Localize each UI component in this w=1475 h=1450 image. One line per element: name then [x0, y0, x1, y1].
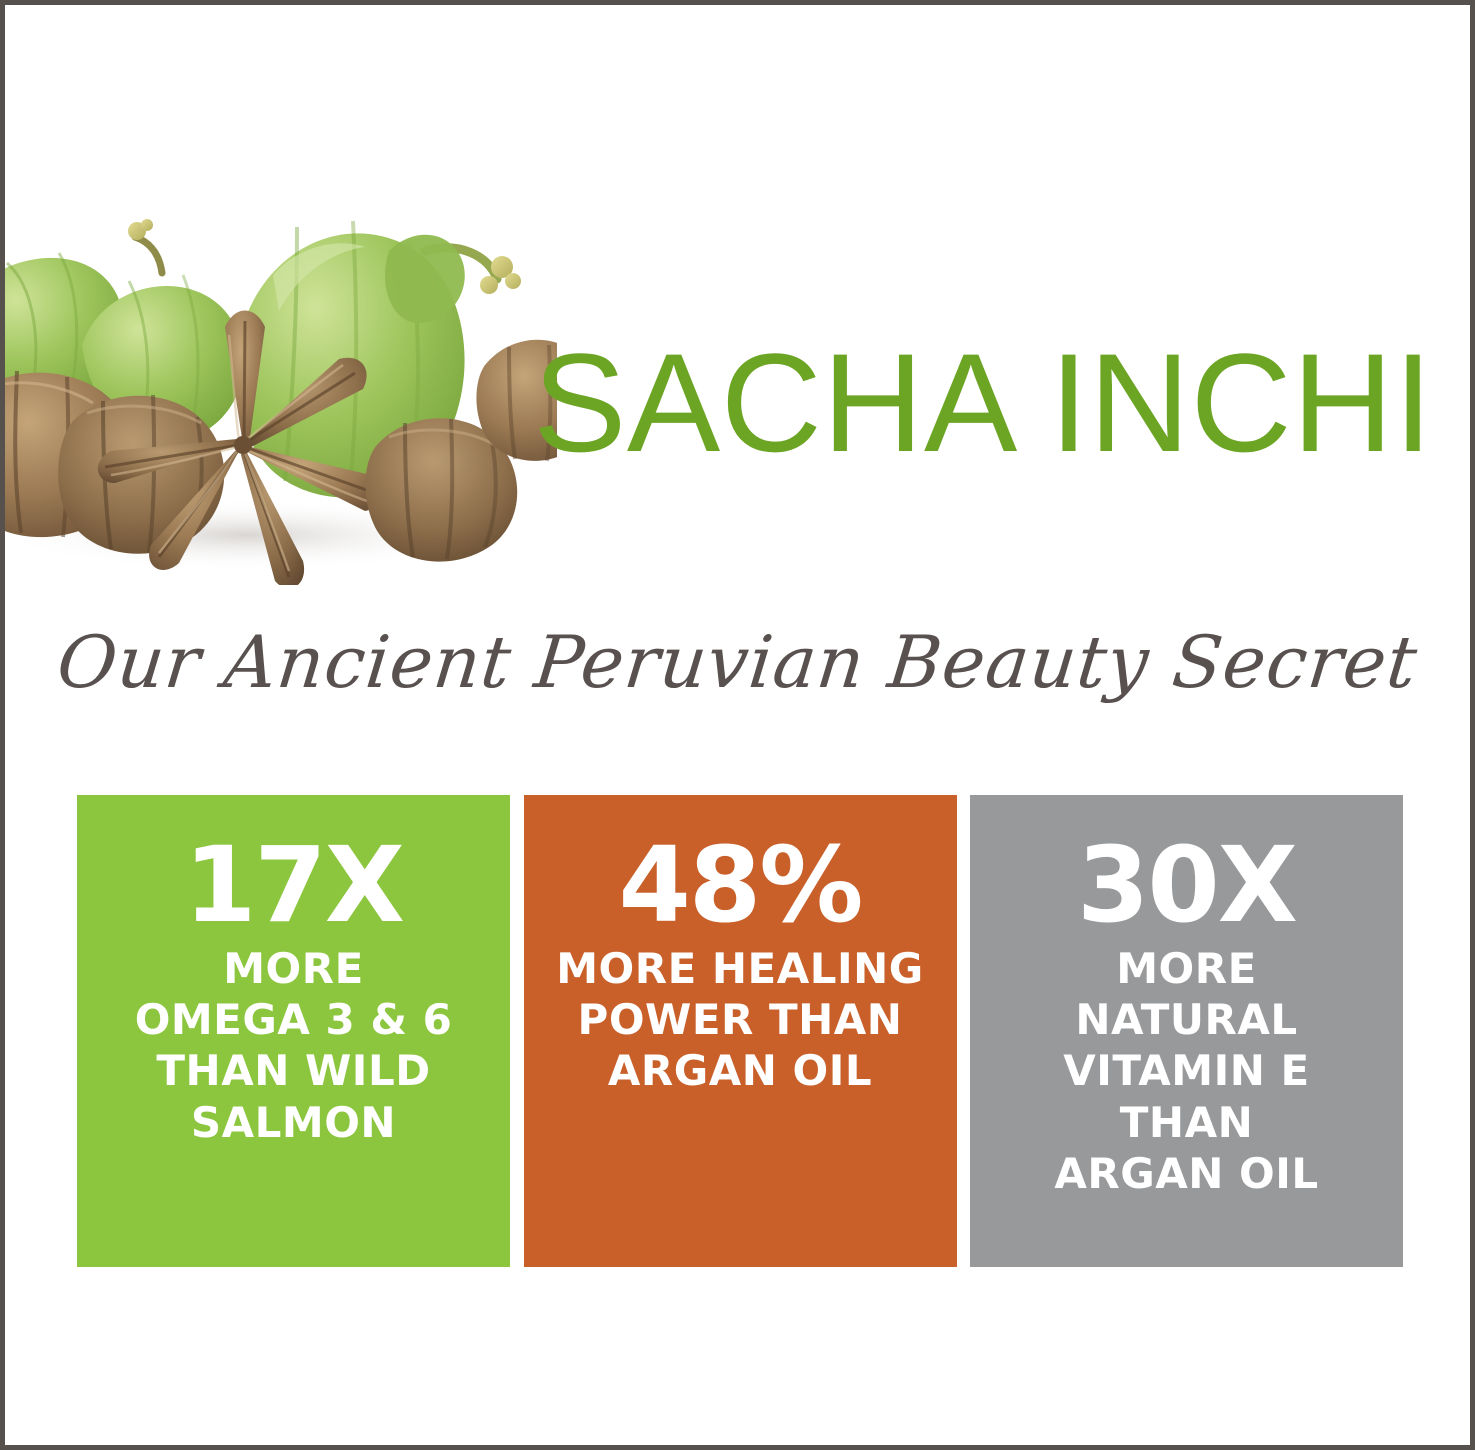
stat-caption: MORE NATURAL VITAMIN E THAN ARGAN OIL: [988, 943, 1385, 1199]
sacha-inchi-illustration: [0, 155, 557, 585]
stat-value: 48%: [542, 833, 939, 937]
stat-panel-healing: 48% MORE HEALING POWER THAN ARGAN OIL: [524, 795, 957, 1267]
stat-caption: MORE OMEGA 3 & 6 THAN WILD SALMON: [95, 943, 492, 1148]
stats-row: 17X MORE OMEGA 3 & 6 THAN WILD SALMON 48…: [77, 795, 1403, 1267]
tagline: Our Ancient Peruvian Beauty Secret: [1, 623, 1474, 702]
page-title: SACHA INCHI: [533, 333, 1433, 473]
stat-value: 30X: [988, 833, 1385, 937]
sacha-inchi-photo: [0, 155, 557, 585]
stat-panel-vitamin-e: 30X MORE NATURAL VITAMIN E THAN ARGAN OI…: [970, 795, 1403, 1267]
infographic-canvas: SACHA INCHI Our Ancient Peruvian Beauty …: [0, 0, 1475, 1450]
stat-panel-omega: 17X MORE OMEGA 3 & 6 THAN WILD SALMON: [77, 795, 510, 1267]
stat-value: 17X: [95, 833, 492, 937]
stat-caption: MORE HEALING POWER THAN ARGAN OIL: [542, 943, 939, 1097]
